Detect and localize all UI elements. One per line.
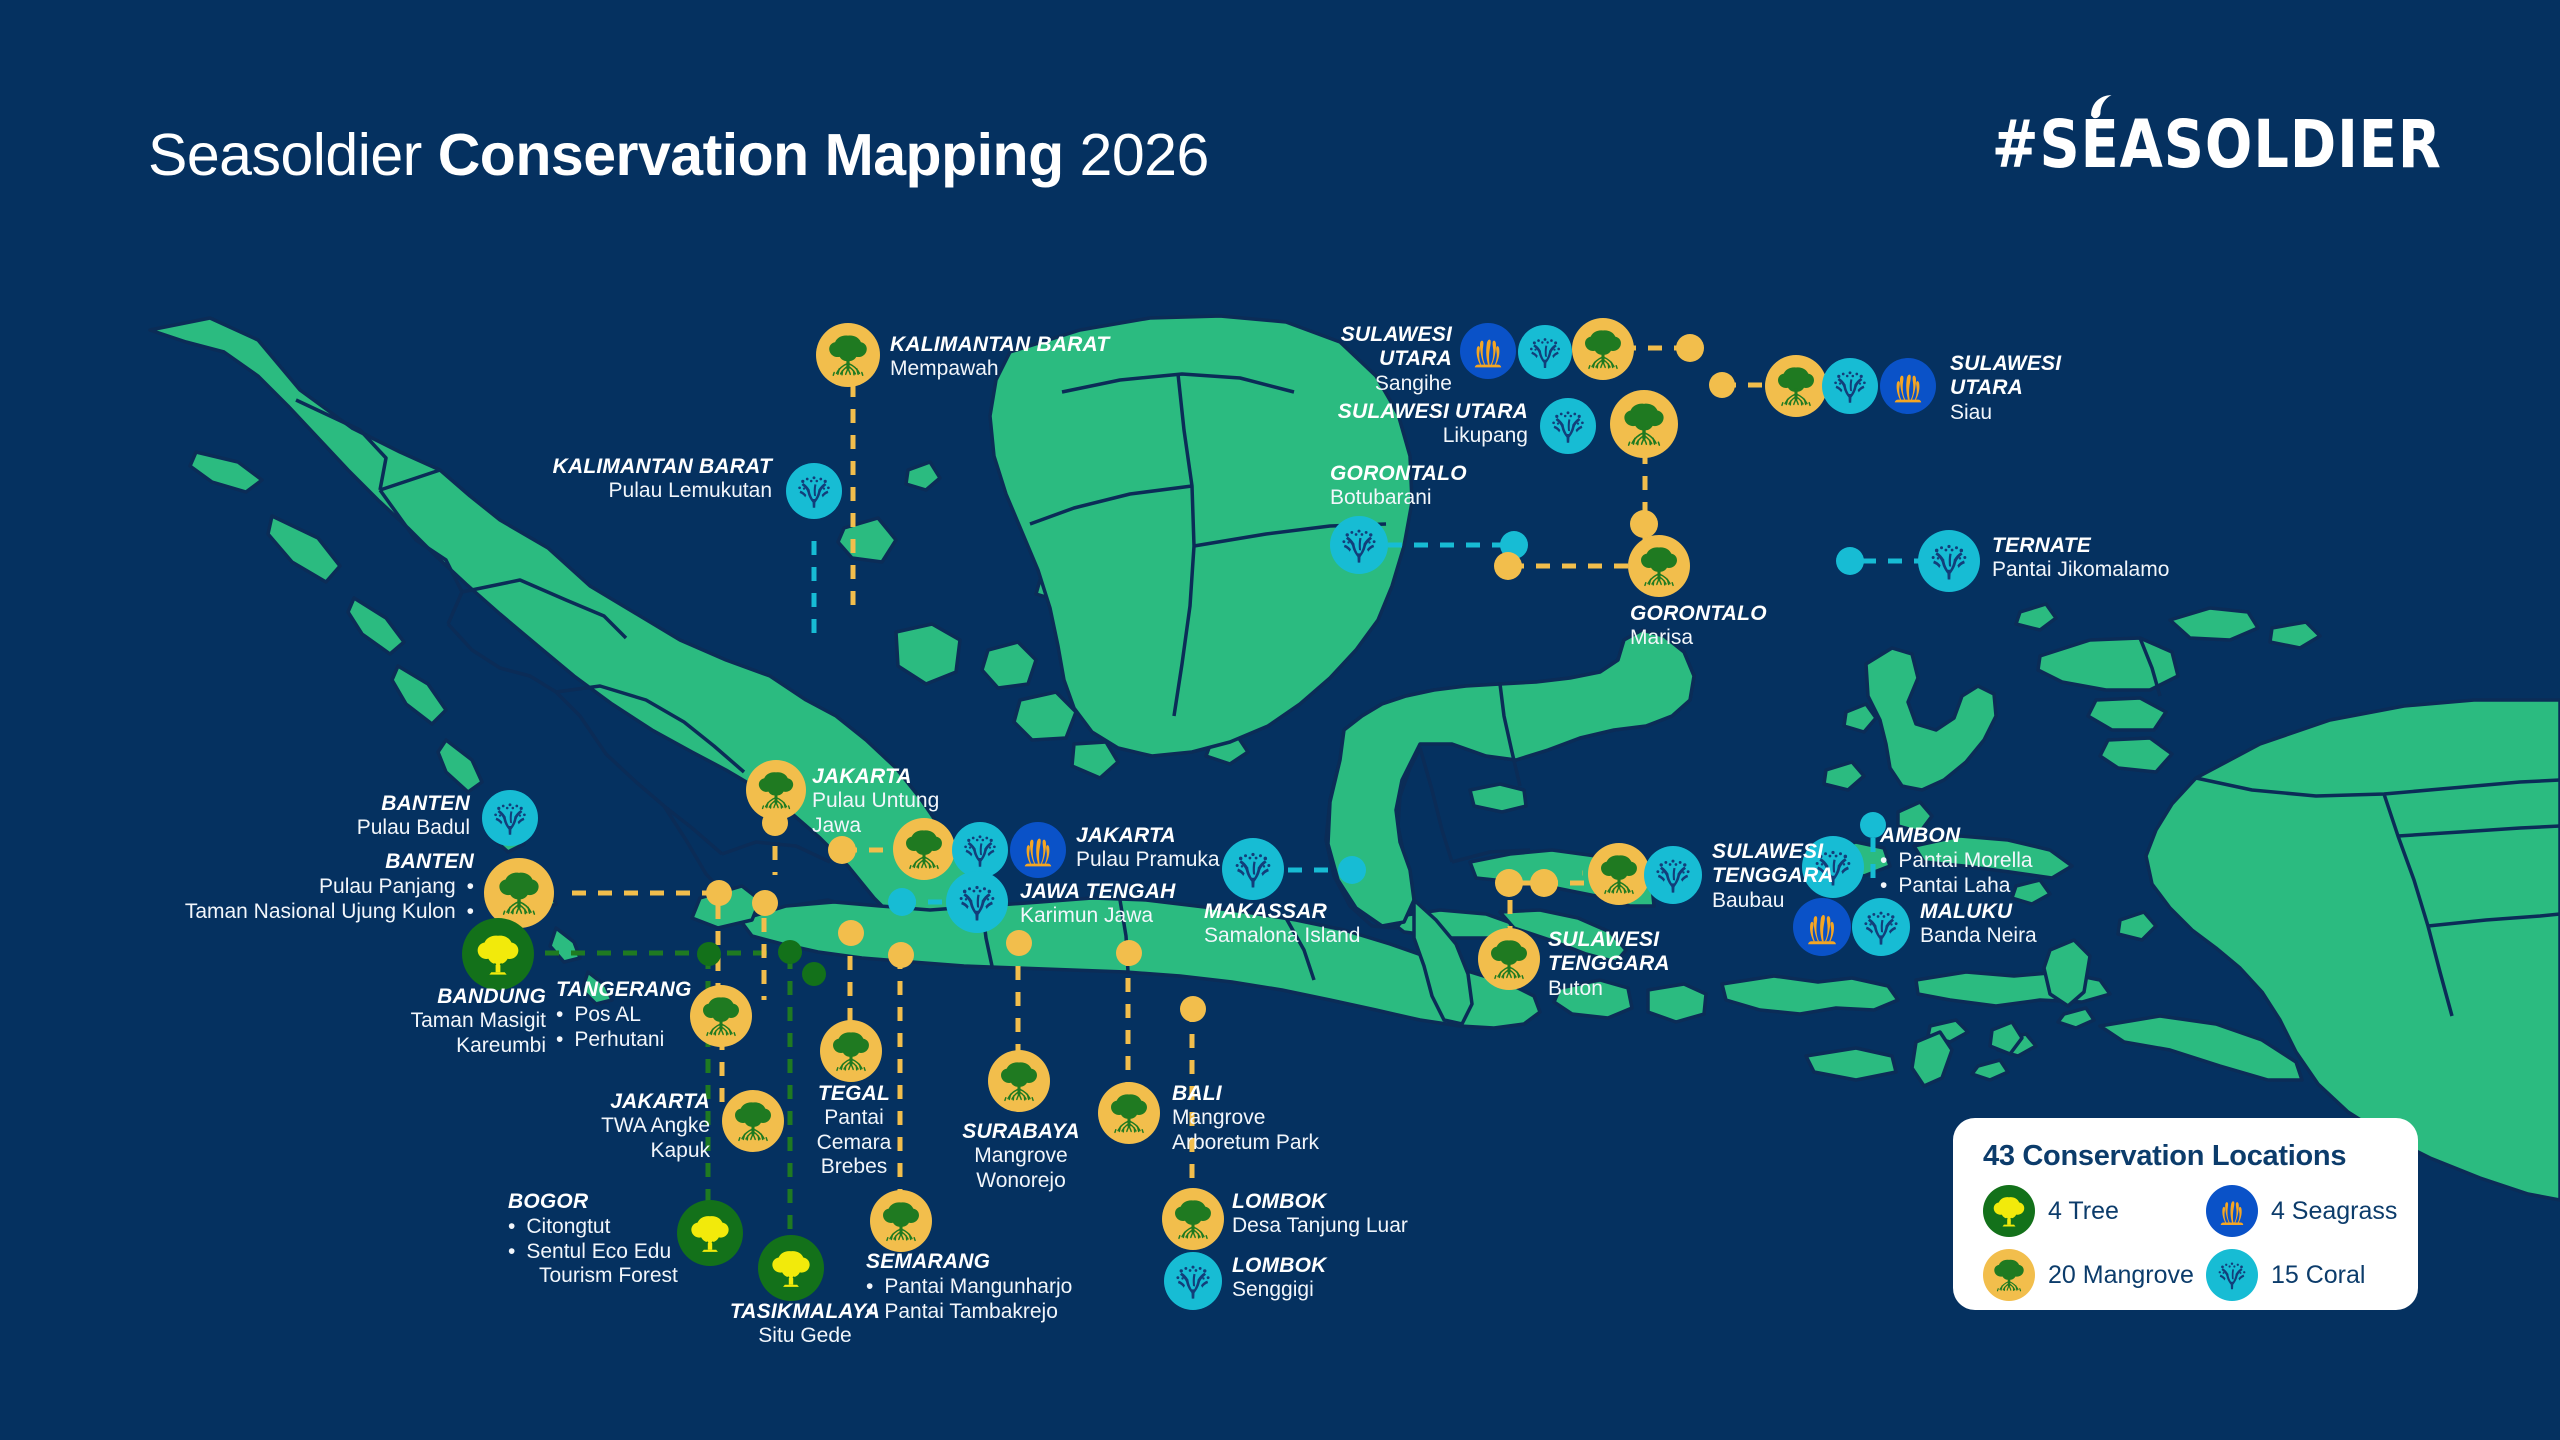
marker-kalbar-lemukutan[interactable] [786, 463, 842, 519]
list-item: Pulau Panjang• [60, 875, 474, 899]
mangrove-icon [1487, 937, 1531, 981]
title-bold: Conservation Mapping [438, 122, 1064, 188]
coral-icon [794, 471, 834, 511]
coral-icon [1338, 524, 1380, 566]
legend-item-tree[interactable]: 4 Tree [1983, 1185, 2194, 1237]
coral-icon [1652, 854, 1694, 896]
coral-icon [1231, 847, 1275, 891]
list-item: Taman Nasional Ujung Kulon• [60, 900, 474, 924]
coral-icon [1526, 333, 1564, 371]
marker-jakarta-untung[interactable] [746, 760, 806, 820]
marker-makassar-samalona[interactable] [1222, 838, 1284, 900]
legend-item-seagrass[interactable]: 4 Seagrass [2206, 1185, 2397, 1237]
marker-semarang[interactable] [870, 1190, 932, 1252]
marker-banten-badul[interactable] [482, 790, 538, 846]
legend-label-mangrove: 20 Mangrove [2048, 1261, 2194, 1290]
label-kalbar-mempawah: KALIMANTAN BARAT Mempawah [890, 333, 1109, 382]
anchor-dot-java-6 [1116, 940, 1142, 966]
tree-icon [1983, 1185, 2035, 1237]
label-surabaya: SURABAYA Mangrove Wonorejo [948, 1120, 1094, 1193]
label-jakarta-angke: JAKARTA TWA Angke Kapuk [450, 1090, 710, 1163]
mangrove-icon [997, 1059, 1041, 1103]
mangrove-icon [1597, 852, 1641, 896]
legend-label-coral: 15 Coral [2271, 1261, 2366, 1290]
marker-sulut-likupang-mangrove[interactable] [1610, 390, 1678, 458]
anchor-dot-tree-3 [802, 962, 826, 986]
legend-label-tree: 4 Tree [2048, 1197, 2119, 1226]
seagrass-icon [2206, 1185, 2258, 1237]
label-maluku-banda: MALUKU Banda Neira [1920, 900, 2037, 949]
mangrove-icon [755, 769, 797, 811]
legend-title: 43 Conservation Locations [1983, 1140, 2392, 1173]
marker-sulut-sangihe-seagrass[interactable] [1460, 323, 1516, 379]
label-sultra-baubau: SULAWESI TENGGARA Baubau [1712, 840, 1834, 913]
label-jakarta-untung: JAKARTA Pulau Untung Jawa [812, 765, 939, 838]
label-tasikmalaya: TASIKMALAYA Situ Gede [722, 1300, 888, 1349]
marker-ternate-coral[interactable] [1918, 530, 1980, 592]
label-sulut-likupang: SULAWESI UTARA Likupang [1300, 400, 1528, 449]
marker-sultra-baubau-mangrove[interactable] [1588, 843, 1650, 905]
marker-sultra-baubau-coral[interactable] [1644, 846, 1702, 904]
label-gorontalo-botubarani: GORONTALO Botubarani [1330, 462, 1467, 511]
list-item: Tourism Forest [508, 1264, 678, 1288]
marker-sulut-sangihe-mangrove[interactable] [1572, 318, 1634, 380]
marker-jateng-karimun[interactable] [946, 871, 1008, 933]
anchor-dot-tree-1 [697, 942, 721, 966]
coral-icon [1927, 539, 1971, 583]
list-item: •Pos AL [556, 1003, 692, 1027]
tree-icon [474, 930, 522, 978]
mangrove-icon [495, 869, 543, 917]
mangrove-icon [1983, 1249, 2035, 1301]
anchor-dot-java-2 [752, 890, 778, 916]
mangrove-icon [1774, 364, 1818, 408]
list-item: •Pantai Mangunharjo [866, 1275, 1072, 1299]
marker-jakarta-angke[interactable] [722, 1090, 784, 1152]
marker-tegal[interactable] [820, 1020, 882, 1082]
anchor-dot-marisa-a [1494, 552, 1522, 580]
marker-sultra-buton[interactable] [1478, 928, 1540, 990]
marker-tangerang[interactable] [690, 985, 752, 1047]
legend-panel: 43 Conservation Locations 4 Tree 4 Seagr… [1953, 1118, 2418, 1310]
title-year: 2026 [1080, 122, 1209, 188]
label-makassar-samalona: MAKASSAR Samalona Island [1204, 900, 1360, 949]
mangrove-icon [879, 1199, 923, 1243]
label-banten-badul: BANTEN Pulau Badul [80, 792, 470, 841]
marker-gorontalo-marisa[interactable] [1628, 535, 1690, 597]
coral-icon [2206, 1249, 2258, 1301]
label-sulut-siau: SULAWESI UTARA Siau [1950, 352, 2061, 425]
mangrove-icon [1581, 327, 1625, 371]
legend-item-coral[interactable]: 15 Coral [2206, 1249, 2397, 1301]
anchor-dot-jakarta-pramuka [828, 836, 856, 864]
label-bali-arboretum: BALI Mangrove Arboretum Park [1172, 1082, 1319, 1155]
marker-bandung-masigit[interactable] [462, 918, 534, 990]
anchor-dot-tree-2 [778, 940, 802, 964]
marker-kalbar-mempawah[interactable] [816, 323, 880, 387]
mangrove-icon [1107, 1091, 1151, 1135]
marker-maluku-banda-coral[interactable] [1852, 898, 1910, 956]
legend-item-mangrove[interactable]: 20 Mangrove [1983, 1249, 2194, 1301]
marker-sulut-likupang-coral[interactable] [1540, 398, 1596, 454]
list-item: •Pantai Morella [1880, 849, 2033, 873]
label-gorontalo-marisa: GORONTALO Marisa [1630, 602, 1767, 651]
list-item: •Sentul Eco Edu [508, 1240, 678, 1264]
list-item: •Pantai Tambakrejo [866, 1300, 1072, 1324]
label-lombok-tanjung: LOMBOK Desa Tanjung Luar [1232, 1190, 1408, 1239]
label-sulut-sangihe: SULAWESI UTARA Sangihe [1280, 323, 1452, 396]
marker-sulut-sangihe-coral[interactable] [1518, 325, 1572, 379]
page-title: Seasoldier Conservation Mapping 2026 [148, 125, 1209, 187]
seagrass-icon [1468, 331, 1508, 371]
marker-sulut-siau-seagrass[interactable] [1880, 358, 1936, 414]
anchor-dot-sultra-a [1495, 869, 1523, 897]
mangrove-icon [1171, 1197, 1215, 1241]
marker-surabaya[interactable] [988, 1050, 1050, 1112]
mangrove-icon [699, 994, 743, 1038]
marker-jakarta-pramuka-seagrass[interactable] [1010, 822, 1066, 878]
coral-icon [1548, 406, 1588, 446]
mangrove-icon [825, 332, 871, 378]
anchor-dot-java-7 [1180, 996, 1206, 1022]
marker-gorontalo-botubarani[interactable] [1330, 516, 1388, 574]
label-bandung-masigit: BANDUNG Taman Masigit Kareumbi [250, 985, 546, 1058]
label-lombok-senggigi: LOMBOK Senggigi [1232, 1254, 1327, 1303]
label-ambon: AMBON •Pantai Morella •Pantai Laha [1880, 824, 2033, 898]
coral-icon [1172, 1260, 1214, 1302]
marker-bali-arboretum[interactable] [1098, 1082, 1160, 1144]
label-semarang: SEMARANG •Pantai Mangunharjo •Pantai Tam… [866, 1250, 1072, 1324]
coral-icon [490, 798, 530, 838]
anchor-dot-java-5 [1006, 930, 1032, 956]
seagrass-icon [1018, 830, 1058, 870]
marker-sulut-siau-mangrove[interactable] [1765, 355, 1827, 417]
seagrass-icon [1888, 366, 1928, 406]
anchor-dot-sangihe [1676, 334, 1704, 362]
anchor-dot-java-1 [706, 880, 732, 906]
marker-jakarta-pramuka-coral[interactable] [952, 822, 1008, 878]
anchor-dot-sultra-b [1530, 869, 1558, 897]
coral-icon [1830, 366, 1870, 406]
seasoldier-logo: #SEASOLDIER [1992, 112, 2442, 178]
marker-lombok-tanjung[interactable] [1162, 1188, 1224, 1250]
mangrove-icon [1620, 400, 1668, 448]
mangrove-icon [731, 1099, 775, 1143]
tree-icon [769, 1246, 813, 1290]
label-bogor: BOGOR •Citongtut •Sentul Eco Edu Tourism… [508, 1190, 678, 1288]
label-tegal: TEGAL Pantai Cemara Brebes [806, 1082, 902, 1179]
marker-bogor[interactable] [677, 1200, 743, 1266]
anchor-dot-jateng [888, 888, 916, 916]
mangrove-icon [829, 1029, 873, 1073]
tree-icon [688, 1211, 732, 1255]
infographic-canvas: Seasoldier Conservation Mapping 2026 #SE… [0, 0, 2560, 1440]
list-item: •Pantai Laha [1880, 874, 2033, 898]
coral-icon [960, 830, 1000, 870]
marker-sulut-siau-coral[interactable] [1822, 358, 1878, 414]
label-jateng-karimun: JAWA TENGAH Karimun Jawa [1020, 880, 1175, 929]
title-light: Seasoldier [148, 122, 422, 188]
anchor-dot-marisa-b [1630, 510, 1658, 538]
list-item: •Citongtut [508, 1215, 678, 1239]
label-tangerang: TANGERANG •Pos AL •Perhutani [556, 978, 692, 1052]
anchor-dot-makassar [1338, 856, 1366, 884]
mangrove-icon [1637, 544, 1681, 588]
label-banten-panjang: BANTEN Pulau Panjang• Taman Nasional Uju… [60, 850, 474, 924]
marker-lombok-senggigi[interactable] [1164, 1252, 1222, 1310]
list-item: •Perhutani [556, 1028, 692, 1052]
label-kalbar-lemukutan: KALIMANTAN BARAT Pulau Lemukutan [380, 455, 772, 504]
anchor-dot-java-4 [888, 942, 914, 968]
anchor-dot-java-3 [838, 920, 864, 946]
marker-tasikmalaya[interactable] [758, 1235, 824, 1301]
anchor-dot-ternate [1836, 547, 1864, 575]
coral-icon [1860, 906, 1902, 948]
label-sultra-buton: SULAWESI TENGGARA Buton [1548, 928, 1670, 1001]
label-ternate-jikomalamo: TERNATE Pantai Jikomalamo [1992, 534, 2169, 583]
legend-label-seagrass: 4 Seagrass [2271, 1197, 2397, 1226]
coral-icon [955, 880, 999, 924]
anchor-dot-siau [1709, 372, 1735, 398]
label-jakarta-pramuka: JAKARTA Pulau Pramuka [1076, 824, 1220, 873]
